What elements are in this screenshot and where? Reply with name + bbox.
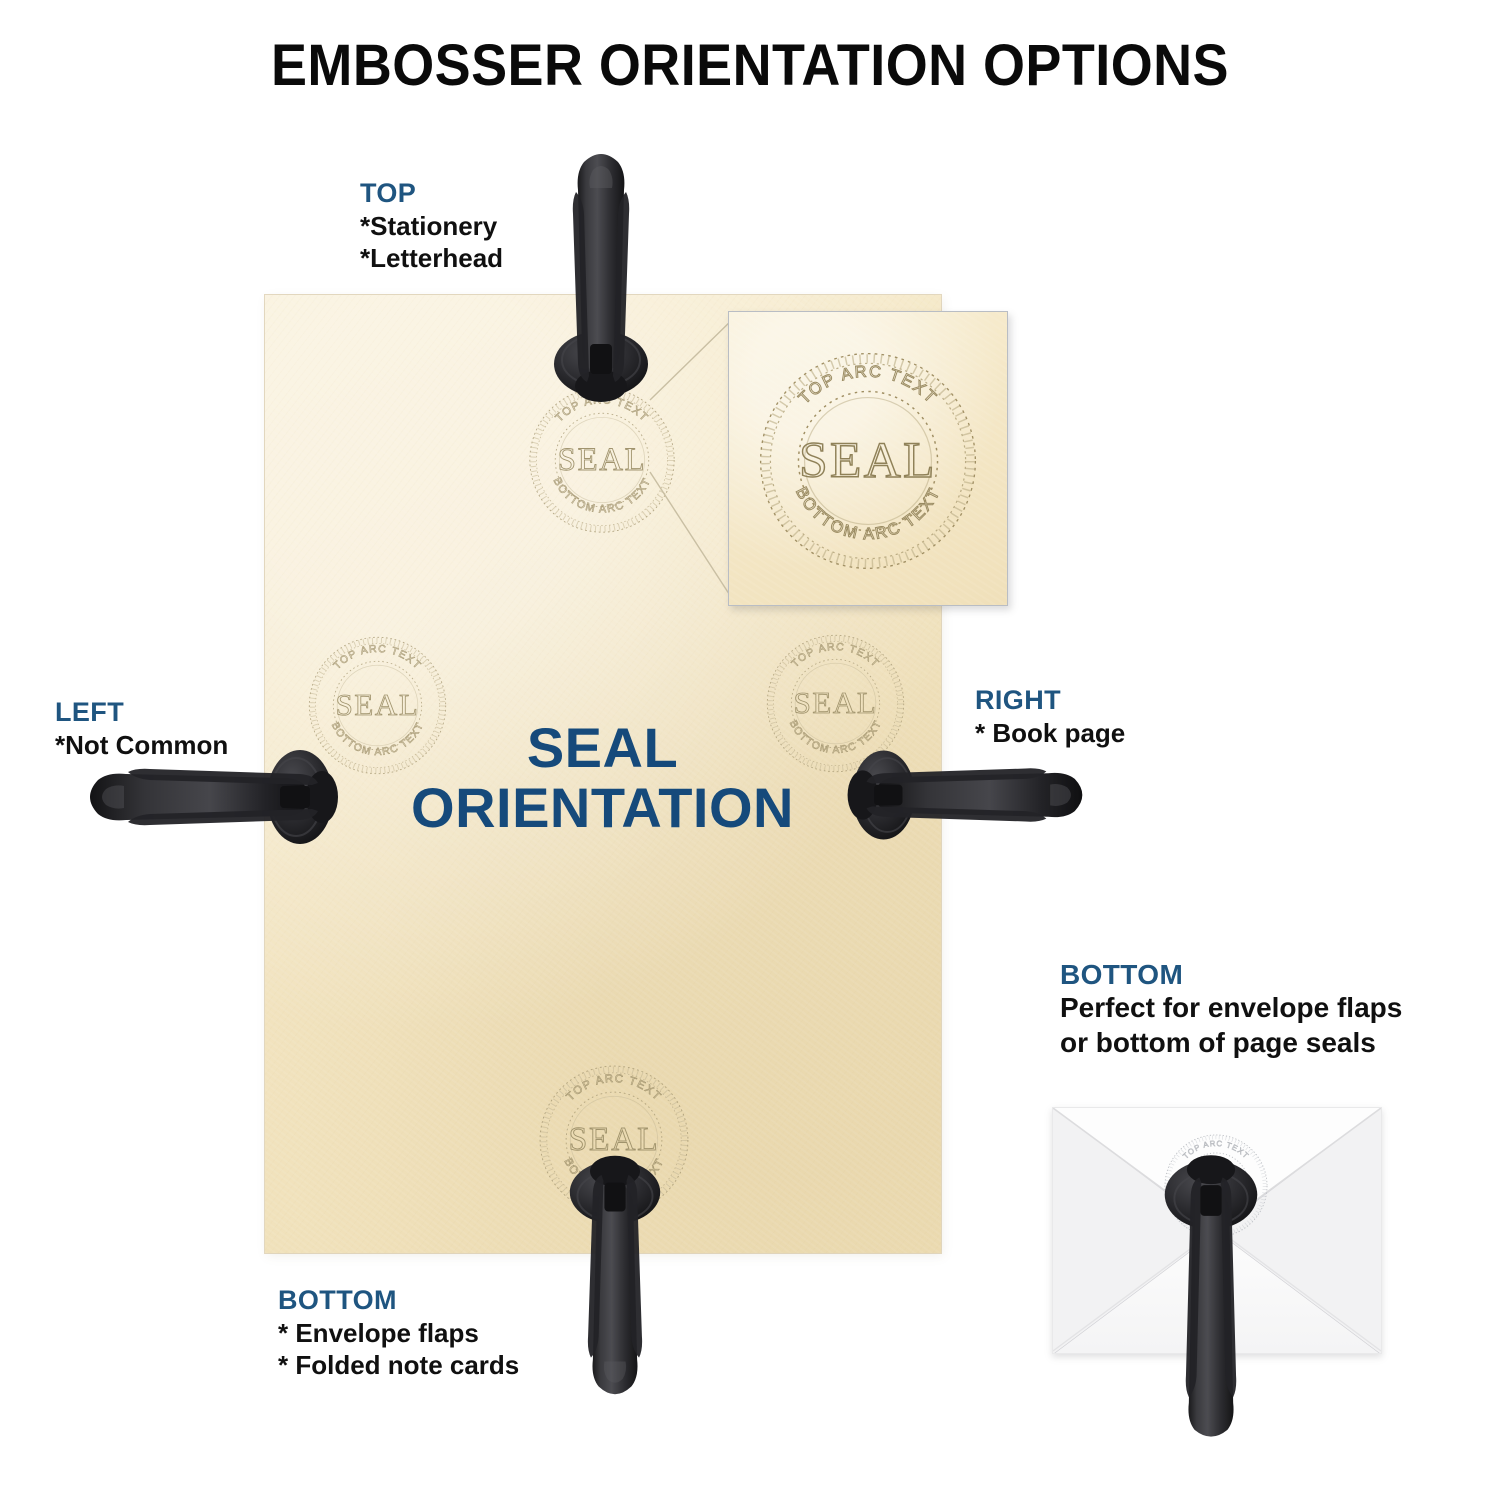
center-headline-line1: SEAL bbox=[330, 718, 875, 778]
callout-left-line-1: *Not Common bbox=[55, 729, 228, 761]
embosser-tool-bottom-page bbox=[560, 1148, 670, 1400]
callout-left: LEFT *Not Common bbox=[55, 697, 228, 761]
page-title: EMBOSSER ORIENTATION OPTIONS bbox=[53, 32, 1448, 99]
magnifier-inset: TOP ARC TEXT BOTTOM ARC TEXT SEAL bbox=[722, 305, 1012, 610]
callout-top: TOP *Stationery *Letterhead bbox=[360, 178, 503, 274]
callout-top-line-1: *Stationery bbox=[360, 210, 503, 242]
callout-bottom-page-line-1: * Envelope flaps bbox=[278, 1317, 519, 1349]
callout-right: RIGHT * Book page bbox=[975, 685, 1125, 749]
callout-bottom-page-heading: BOTTOM bbox=[278, 1285, 519, 1317]
center-headline: SEAL ORIENTATION bbox=[330, 718, 875, 839]
center-headline-line2: ORIENTATION bbox=[330, 778, 875, 838]
callout-bottom-envelope-line-1: Perfect for envelope flaps bbox=[1060, 991, 1402, 1026]
callout-right-line-1: * Book page bbox=[975, 717, 1125, 749]
magnifier-inset-panel bbox=[728, 311, 1008, 606]
embosser-tool-top bbox=[546, 148, 656, 410]
callout-bottom-page: BOTTOM * Envelope flaps * Folded note ca… bbox=[278, 1285, 519, 1381]
callout-bottom-envelope-heading: BOTTOM bbox=[1060, 958, 1402, 991]
embosser-tool-right bbox=[840, 740, 1088, 850]
embosser-tool-envelope bbox=[1158, 1148, 1264, 1438]
callout-top-line-2: *Letterhead bbox=[360, 242, 503, 274]
illustration-canvas: EMBOSSER ORIENTATION OPTIONS TOP ARC TEX… bbox=[0, 0, 1500, 1500]
callout-top-heading: TOP bbox=[360, 178, 503, 210]
callout-bottom-page-line-2: * Folded note cards bbox=[278, 1349, 519, 1381]
callout-bottom-envelope: BOTTOM Perfect for envelope flaps or bot… bbox=[1060, 958, 1402, 1060]
callout-right-heading: RIGHT bbox=[975, 685, 1125, 717]
callout-left-heading: LEFT bbox=[55, 697, 228, 729]
callout-bottom-envelope-line-2: or bottom of page seals bbox=[1060, 1026, 1402, 1061]
